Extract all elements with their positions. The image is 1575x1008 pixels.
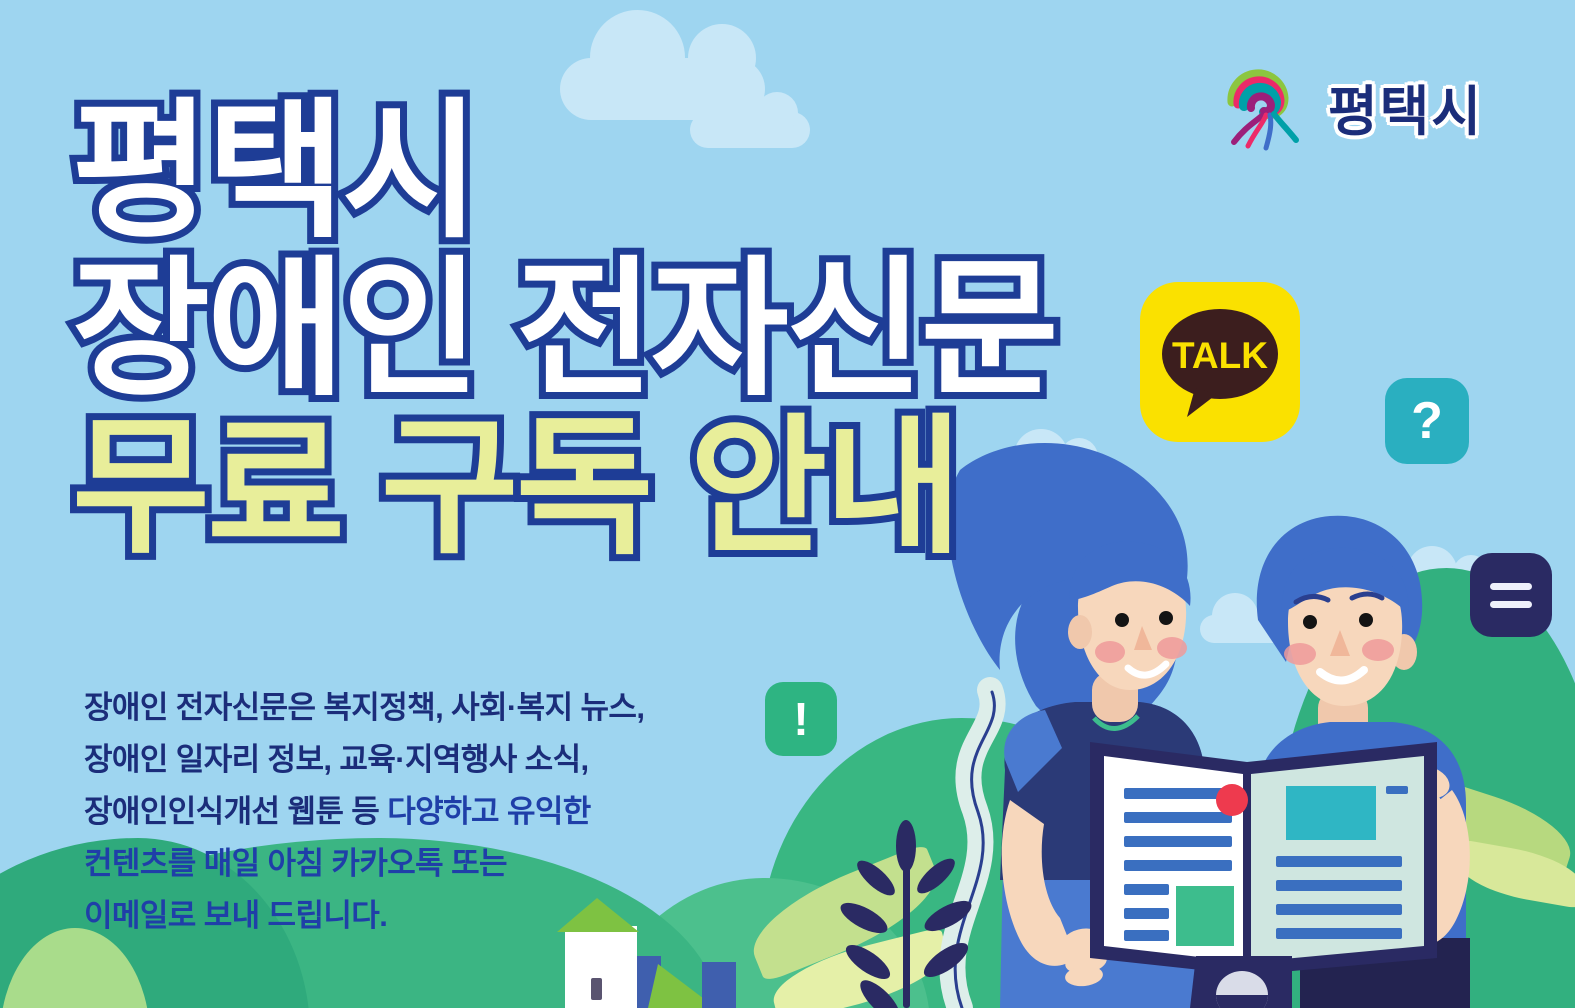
equals-bar-top	[1490, 583, 1532, 590]
city-logo: 평택시	[1218, 58, 1483, 154]
body-line-3-plain: 장애인인식개선 웹툰 등	[84, 794, 387, 829]
headline-line-2: 장애인 전자신문	[72, 254, 1072, 404]
headline-line-1: 평택시	[72, 96, 1072, 246]
pyeongtaek-city-emblem-icon	[1218, 58, 1314, 154]
cloud-icon	[1200, 615, 1300, 643]
svg-text:TALK: TALK	[1172, 335, 1268, 376]
cloud-icon	[1100, 650, 1172, 672]
kakaotalk-bubble-icon: TALK	[1155, 302, 1285, 422]
question-mark-icon[interactable]: ?	[1385, 378, 1469, 464]
city-logo-text: 평택시	[1328, 67, 1483, 146]
body-paragraph: 장애인 전자신문은 복지정책, 사회·복지 뉴스, 장애인 일자리 정보, 교육…	[84, 682, 744, 942]
body-line-4: 컨텐츠를 매일 아침 카카오톡 또는	[84, 838, 744, 890]
shed-illustration	[640, 948, 760, 1008]
exclamation-icon[interactable]: !	[765, 682, 837, 756]
body-line-3-strong: 다양하고 유익한	[387, 794, 590, 829]
body-line-2: 장애인 일자리 정보, 교육·지역행사 소식,	[84, 734, 744, 786]
kakaotalk-icon[interactable]: TALK	[1140, 282, 1300, 442]
question-mark-label: ?	[1411, 391, 1443, 451]
body-line-1: 장애인 전자신문은 복지정책, 사회·복지 뉴스,	[84, 682, 744, 734]
body-line-3: 장애인인식개선 웹툰 등 다양하고 유익한	[84, 786, 744, 838]
equals-menu-icon[interactable]	[1470, 553, 1552, 637]
exclamation-label: !	[793, 692, 808, 746]
headline-block: 평택시 장애인 전자신문 무료 구독 안내	[72, 96, 1072, 562]
body-line-5: 이메일로 보내 드립니다.	[84, 890, 744, 942]
equals-bar-bottom	[1490, 601, 1532, 608]
headline-line-3: 무료 구독 안내	[72, 412, 1072, 562]
poster-canvas: 평택시 장애인 전자신문 무료 구독 안내 장애인 전자신문은 복지정책, 사회…	[0, 0, 1575, 1008]
